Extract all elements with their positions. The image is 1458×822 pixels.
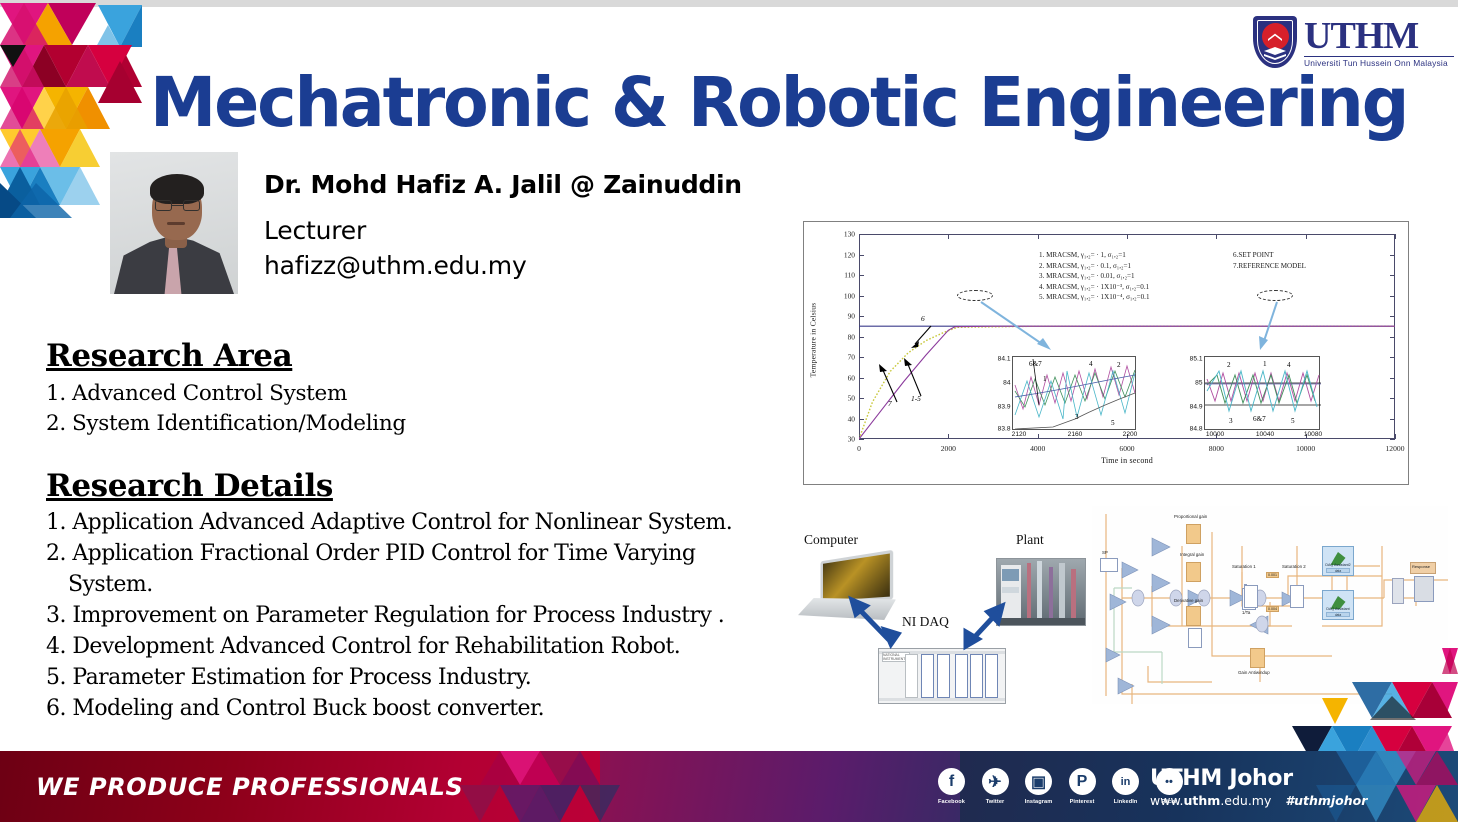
chart-y-tick-label: 80 (848, 332, 855, 341)
top-strip (0, 0, 1458, 7)
chart-y-tick-label: 50 (848, 394, 855, 403)
social-link-label: Pinterest (1070, 799, 1095, 805)
daq-assistant-node[interactable]: DAQ Assistant data (1322, 590, 1354, 620)
hardware-setup-diagram: Computer NI DAQ Plant NATIONALINSTRUMENT… (790, 524, 1090, 716)
chart-plot-area: 30405060708090100110120130 0200040006000… (859, 234, 1395, 439)
research-area-heading: Research Area (46, 338, 292, 374)
sp-label: SP (1102, 550, 1108, 555)
facebook-icon[interactable]: f (938, 768, 965, 795)
chart-y-tick-label: 90 (848, 312, 855, 321)
social-link-label: LinkedIn (1114, 799, 1138, 805)
proportional-gain-control[interactable] (1186, 524, 1201, 544)
inset1-label-3: 3 (1075, 413, 1079, 421)
website-prefix: www. (1150, 793, 1184, 808)
chart-y-axis-label: Temperature in Celsius (809, 275, 818, 405)
chart-y-tick-mark-right (1390, 439, 1395, 440)
list-item: 4. Development Advanced Control for Reha… (46, 631, 732, 662)
inset1-xtick: 2160 (1068, 431, 1083, 438)
list-item: 1.Advanced Control System (46, 379, 406, 409)
inset1-ytick: 84.1 (998, 356, 1011, 363)
list-item-text: Modeling and Control Buck boost converte… (72, 696, 544, 721)
saturation-1-label: Saturation 1 (1232, 564, 1256, 569)
inset1-xtick: 2120 (1012, 431, 1027, 438)
list-item: 2.System Identification/Modeling (46, 409, 406, 439)
diagram-arrows (790, 524, 1090, 716)
list-item-number: 1. (46, 507, 66, 538)
footer-social-links: fFacebook✈Twitter▣InstagramPPinterestinL… (938, 768, 1183, 805)
inset2-ytick: 85 (1195, 380, 1202, 387)
chart-annotation-6: 6 (921, 314, 925, 323)
response-label: Response (1412, 564, 1430, 569)
social-link-label: Twitter (986, 799, 1005, 805)
gain-antiwindup-control[interactable] (1250, 648, 1265, 668)
chart-x-tick-label: 10000 (1296, 444, 1315, 453)
inset2-label-1: 1 (1263, 360, 1267, 368)
bundle-connector (1392, 578, 1404, 604)
chart-y-tick-label: 60 (848, 373, 855, 382)
social-link-label: Instagram (1025, 799, 1053, 805)
chart-x-tick-mark-top (1395, 234, 1396, 239)
book-icon (1262, 45, 1288, 61)
chart-x-tick-label: 4000 (1030, 444, 1045, 453)
inset1-label-1: 1 (1043, 375, 1047, 383)
response-graph[interactable] (1414, 576, 1434, 602)
daq-data-terminal[interactable]: data (1326, 568, 1350, 573)
saturation-2-label: Saturation 2 (1282, 564, 1306, 569)
footer-triangle-decor (430, 751, 730, 822)
list-item-text: Improvement on Parameter Regulation for … (72, 603, 724, 628)
saturation-1-block[interactable] (1244, 585, 1258, 608)
derivative-gain-control[interactable] (1186, 606, 1201, 626)
chart-x-tick-mark (1395, 434, 1396, 439)
inset1-xtick: 2200 (1123, 431, 1138, 438)
chart-x-tick-label: 0 (857, 444, 861, 453)
chart-y-tick-label: 120 (844, 250, 855, 259)
list-item-number: 5. (46, 662, 66, 693)
chart-y-tick-label: 100 (844, 291, 855, 300)
daq-assistant-2-label: DAQ Assistant2 (1323, 563, 1353, 567)
temperature-response-chart: 30405060708090100110120130 0200040006000… (803, 221, 1409, 485)
list-item: 2. Application Fractional Order PID Cont… (46, 538, 732, 569)
website-suffix: .edu.my (1220, 793, 1271, 808)
footer-slogan: WE PRODUCE PROFESSIONALS (36, 773, 463, 801)
research-details-heading: Research Details (46, 468, 333, 504)
list-item-number: 3. (46, 600, 66, 631)
inset1-ytick: 84 (1003, 380, 1010, 387)
zoom-pointer-1 (979, 300, 1059, 358)
list-item-number: 2. (46, 538, 66, 569)
uthm-logo: UTHM Universiti Tun Hussein Onn Malaysia (1253, 14, 1451, 70)
sp-control[interactable] (1100, 558, 1118, 572)
inset2-ytick: 84.9 (1190, 404, 1203, 411)
person-role: Lecturer (264, 216, 366, 245)
inset2-ytick: 84.8 (1190, 426, 1203, 433)
chart-x-tick-label: 2000 (941, 444, 956, 453)
inset2-ytick: 85.1 (1190, 356, 1203, 363)
chart-y-tick-label: 70 (848, 353, 855, 362)
chart-y-tick-label: 40 (848, 414, 855, 423)
research-area-list: 1.Advanced Control System 2.System Ident… (46, 379, 406, 439)
footer-brand: UTHM Johor www.uthm.edu.my#uthmjohor (1150, 766, 1367, 808)
chart-y-tick-label: 30 (848, 435, 855, 444)
annotation-arrow-6 (909, 324, 935, 350)
list-item-text: Application Fractional Order PID Control… (72, 541, 695, 566)
social-link-facebook[interactable]: fFacebook (938, 768, 965, 805)
list-item-continuation: System. (46, 569, 732, 600)
list-item-text: Advanced Control System (72, 381, 347, 406)
page-title: Mechatronic & Robotic Engineering (150, 57, 1231, 149)
list-item-number: 2. (46, 409, 72, 439)
inset1-label-2: 2 (1117, 361, 1121, 369)
integral-gain-control[interactable] (1186, 562, 1201, 582)
one-over-ta-label: 1/Ta (1242, 610, 1250, 615)
daq-data-terminal[interactable]: data (1326, 612, 1350, 617)
inset1-ytick: 83.9 (998, 404, 1011, 411)
derivative-gain-label: Derivative gain (1174, 598, 1203, 603)
list-item-text: System. (68, 572, 153, 597)
numeric-constant-2[interactable]: 0.004 (1266, 606, 1279, 612)
avatar (110, 152, 238, 294)
twitter-icon[interactable]: ✈ (982, 768, 1009, 795)
list-item-number: 6. (46, 693, 66, 724)
social-link-instagram[interactable]: ▣Instagram (1025, 768, 1052, 805)
gain-antiwindup-label: Gain Antiwindup (1238, 670, 1270, 675)
list-item-number: 1. (46, 379, 72, 409)
social-link-linkedin[interactable]: inLinkedIn (1112, 768, 1139, 805)
inset2-label-2: 2 (1227, 361, 1231, 369)
inset2-xtick: 10000 (1206, 431, 1224, 438)
proportional-gain-label: Proportional gain (1174, 514, 1207, 519)
chart-y-tick-mark (859, 439, 864, 440)
footer-brand-name: UTHM Johor (1150, 766, 1367, 791)
social-link-twitter[interactable]: ✈Twitter (982, 768, 1009, 805)
chart-y-tick-label: 130 (844, 230, 855, 239)
social-link-label: Facebook (938, 799, 965, 805)
inset1-label-5: 5 (1111, 419, 1115, 427)
inset2-xtick: 10040 (1256, 431, 1274, 438)
inset2-label-5: 5 (1291, 417, 1295, 425)
inset2-xtick: 10080 (1304, 431, 1322, 438)
person-email: hafizz@uthm.edu.my (264, 251, 527, 280)
chart-x-tick-label: 6000 (1119, 444, 1134, 453)
research-details-list: 1. Application Advanced Adaptive Control… (46, 507, 732, 724)
list-item-number: 4. (46, 631, 66, 662)
chart-x-tick-label: 8000 (1209, 444, 1224, 453)
annotation-arrow-1-5 (903, 356, 929, 398)
inset1-ytick: 83.8 (998, 426, 1011, 433)
list-item-text: System Identification/Modeling (72, 411, 406, 436)
list-item-text: Application Advanced Adaptive Control fo… (72, 510, 732, 535)
instagram-icon[interactable]: ▣ (1025, 768, 1052, 795)
derivative-block[interactable] (1188, 628, 1202, 648)
glasses-icon (155, 200, 200, 211)
list-item: 5. Parameter Estimation for Process Indu… (46, 662, 732, 693)
list-item-text: Parameter Estimation for Process Industr… (72, 665, 531, 690)
integral-gain-label: Integral gain (1180, 552, 1204, 557)
chart-x-axis-label: Time in second (859, 456, 1395, 465)
chart-inset-2: 85.1 85 84.9 84.8 10000 10040 10080 2 1 … (1204, 356, 1320, 430)
chart-inset-1: 84.1 84 83.9 83.8 2120 2160 2200 6&7 1 4… (1012, 356, 1136, 430)
chart-y-tick-label: 110 (844, 271, 855, 280)
person-name: Dr. Mohd Hafiz A. Jalil @ Zainuddin (264, 170, 742, 199)
pinterest-icon[interactable]: P (1069, 768, 1096, 795)
saturation-2-block[interactable] (1290, 585, 1304, 608)
list-item: 3. Improvement on Parameter Regulation f… (46, 600, 732, 631)
inset1-label-4: 4 (1089, 360, 1093, 368)
linkedin-icon[interactable]: in (1112, 768, 1139, 795)
footer-website[interactable]: www.uthm.edu.my#uthmjohor (1150, 793, 1367, 808)
website-domain: uthm (1184, 793, 1221, 808)
footer-hashtag: #uthmjohor (1285, 793, 1367, 808)
social-link-pinterest[interactable]: PPinterest (1069, 768, 1096, 805)
daq-assistant-label: DAQ Assistant (1323, 607, 1353, 611)
inset2-label-6-7: 6&7 (1253, 415, 1266, 423)
logo-wordmark: UTHM (1304, 17, 1454, 55)
chart-x-tick-label: 12000 (1386, 444, 1405, 453)
numeric-constant-1[interactable]: 0.001 (1266, 572, 1279, 578)
uthm-shield-icon (1253, 16, 1297, 68)
inset2-label-3: 3 (1229, 417, 1233, 425)
list-item: 1. Application Advanced Adaptive Control… (46, 507, 732, 538)
zoom-pointer-2 (1251, 300, 1287, 354)
list-item-text: Development Advanced Control for Rehabil… (72, 634, 680, 659)
inset1-label-6-7: 6&7 (1029, 360, 1042, 368)
daq-assistant-2-node[interactable]: DAQ Assistant2 data (1322, 546, 1354, 576)
annotation-arrow-7 (877, 362, 903, 404)
list-item: 6. Modeling and Control Buck boost conve… (46, 693, 732, 724)
inset2-label-4: 4 (1287, 361, 1291, 369)
